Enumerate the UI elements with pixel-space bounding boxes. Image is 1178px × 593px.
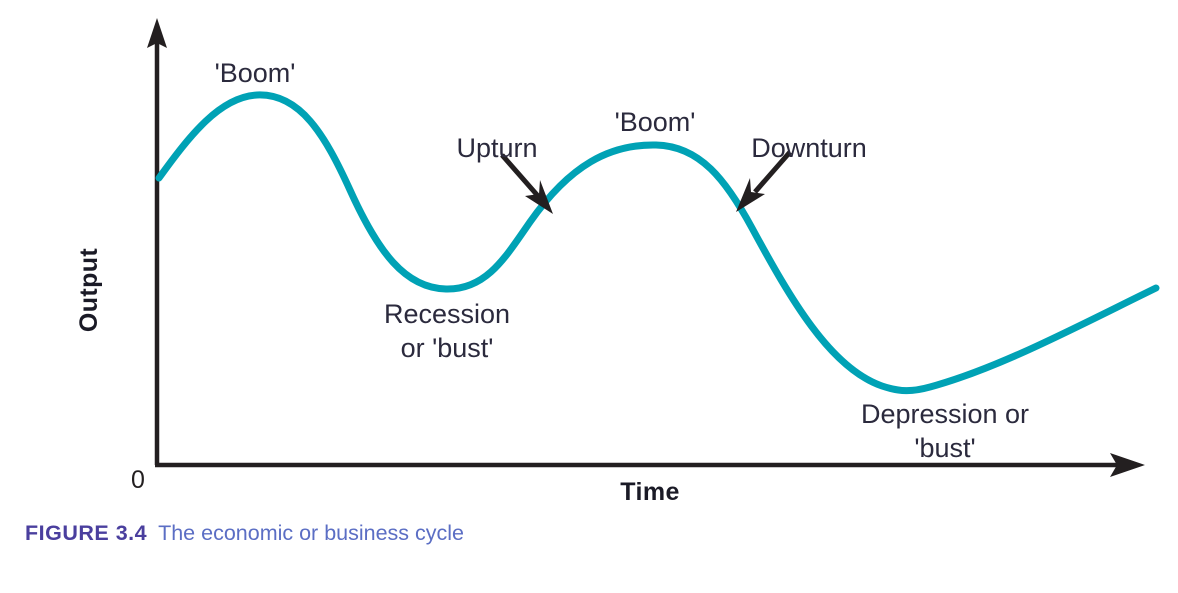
- label-boom-second: 'Boom': [615, 107, 696, 137]
- label-recession-line1: Recession: [384, 299, 510, 329]
- y-axis-title: Output: [75, 248, 103, 333]
- label-downturn: Downturn: [751, 133, 867, 163]
- business-cycle-chart: Output Time 0 'Boom' Recession or 'bust'…: [0, 0, 1178, 510]
- label-boom-first: 'Boom': [215, 58, 296, 88]
- upturn-arrow-icon: [502, 155, 553, 214]
- business-cycle-curve: [159, 95, 1156, 391]
- annotation-arrows: [502, 152, 790, 214]
- label-depression-line2: 'bust': [914, 433, 975, 463]
- figure-caption-text: The economic or business cycle: [158, 521, 464, 545]
- chart-labels: Output Time 0 'Boom' Recession or 'bust'…: [75, 58, 1029, 506]
- figure-caption: FIGURE 3.4The economic or business cycle: [25, 521, 464, 547]
- figure-number: FIGURE 3.4: [25, 521, 147, 545]
- origin-label: 0: [131, 466, 145, 494]
- x-axis-title: Time: [620, 478, 680, 506]
- cycle-curve-group: [159, 95, 1156, 391]
- label-recession-line2: or 'bust': [401, 333, 494, 363]
- label-depression-line1: Depression or: [861, 399, 1029, 429]
- figure-container: Output Time 0 'Boom' Recession or 'bust'…: [0, 0, 1178, 593]
- label-upturn: Upturn: [456, 133, 537, 163]
